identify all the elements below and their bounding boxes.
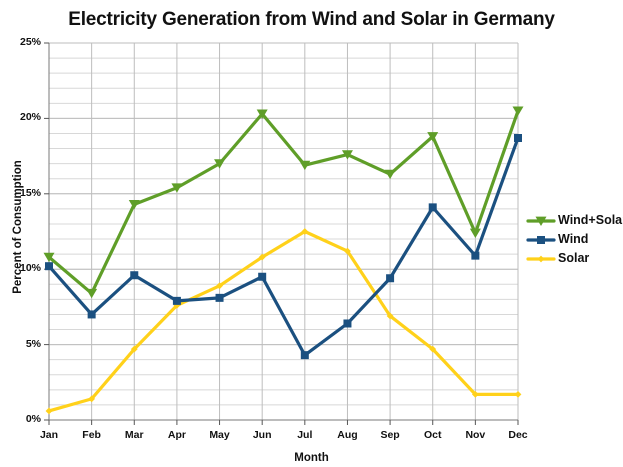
legend-item-wind[interactable]: Wind	[558, 232, 588, 246]
series-solar	[46, 228, 522, 414]
x-tick-label-jan: Jan	[26, 429, 72, 441]
y-tick-label: 5%	[1, 338, 41, 350]
x-tick-label-may: May	[197, 429, 243, 441]
x-tick-label-nov: Nov	[452, 429, 498, 441]
x-tick-label-oct: Oct	[410, 429, 456, 441]
series-wind	[45, 134, 522, 359]
x-axis-title-wrapper: Month	[0, 448, 623, 466]
x-tick-label-sep: Sep	[367, 429, 413, 441]
legend-item-solar[interactable]: Solar	[558, 251, 589, 265]
series-lines	[44, 106, 524, 414]
x-tick-label-jun: Jun	[239, 429, 285, 441]
x-tick-label-dec: Dec	[495, 429, 541, 441]
plot-area	[0, 0, 623, 467]
y-tick-label: 20%	[1, 111, 41, 123]
x-axis-title: Month	[294, 452, 328, 464]
legend-item-wind-plus-solar[interactable]: Wind+Solar	[558, 213, 623, 227]
y-tick-label: 25%	[1, 36, 41, 48]
chart-container: Electricity Generation from Wind and Sol…	[0, 0, 623, 467]
y-axis-title: Percent of Consumption	[12, 160, 24, 294]
x-tick-label-aug: Aug	[324, 429, 370, 441]
axis-lines	[44, 43, 518, 425]
y-tick-label: 0%	[1, 413, 41, 425]
y-axis-title-wrapper: Percent of Consumption	[8, 147, 26, 307]
x-tick-label-feb: Feb	[69, 429, 115, 441]
x-tick-label-apr: Apr	[154, 429, 200, 441]
legend-glyphs	[528, 217, 554, 263]
x-tick-label-mar: Mar	[111, 429, 157, 441]
x-tick-label-jul: Jul	[282, 429, 328, 441]
